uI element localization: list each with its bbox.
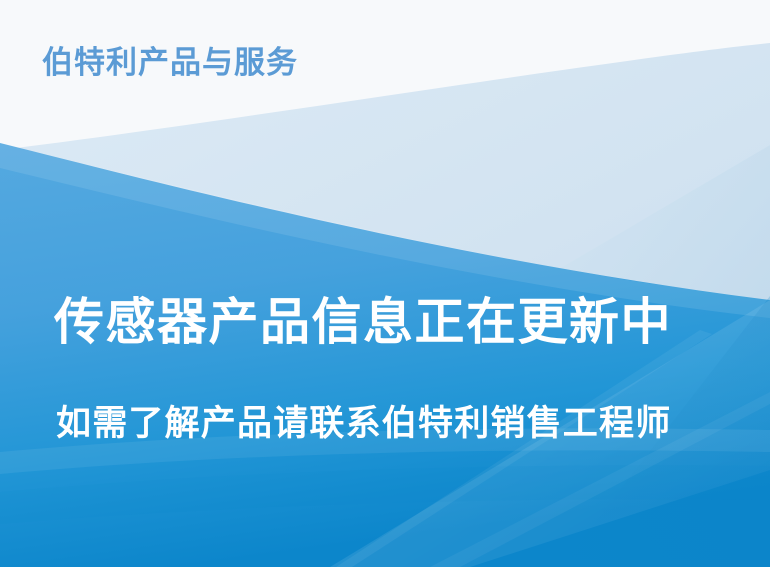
- product-service-banner: 伯特利产品与服务 传感器产品信息正在更新中 如需了解产品请联系伯特利销售工程师: [0, 0, 770, 567]
- headline-primary: 传感器产品信息正在更新中: [54, 296, 672, 349]
- brand-title: 伯特利产品与服务: [42, 48, 298, 79]
- banner-text-layer: 伯特利产品与服务 传感器产品信息正在更新中 如需了解产品请联系伯特利销售工程师: [0, 0, 770, 567]
- headline-secondary: 如需了解产品请联系伯特利销售工程师: [56, 406, 671, 443]
